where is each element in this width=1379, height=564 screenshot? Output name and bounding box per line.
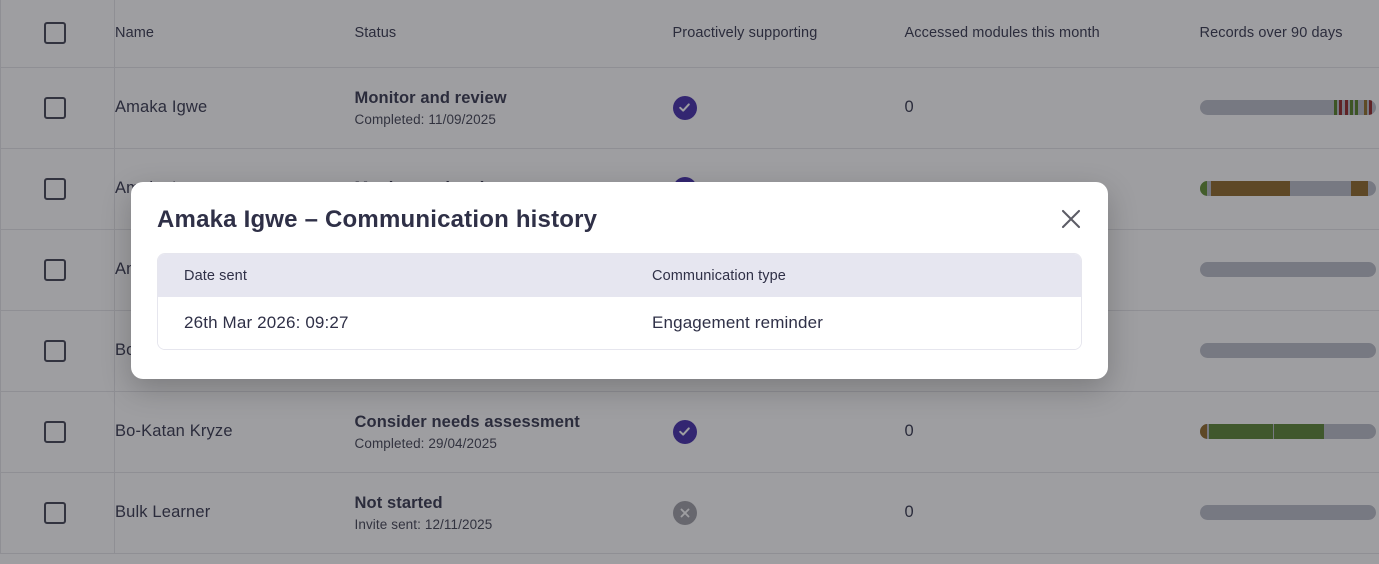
cell-date-sent: 26th Mar 2026: 09:27 (158, 297, 626, 349)
cell-communication-type: Engagement reminder (626, 297, 1081, 349)
communication-history-table-container: Date sent Communication type 26th Mar 20… (157, 253, 1082, 350)
modal-title: Amaka Igwe – Communication history (157, 206, 597, 234)
modal-column-date-sent: Date sent (158, 254, 626, 297)
modal-table-body: 26th Mar 2026: 09:27Engagement reminder (158, 297, 1081, 349)
communication-history-modal: Amaka Igwe – Communication history Date … (131, 182, 1108, 379)
close-icon[interactable] (1056, 204, 1086, 234)
modal-header-row: Date sent Communication type (158, 254, 1081, 297)
communication-history-table: Date sent Communication type 26th Mar 20… (158, 254, 1081, 349)
modal-table-head: Date sent Communication type (158, 254, 1081, 297)
modal-table-row: 26th Mar 2026: 09:27Engagement reminder (158, 297, 1081, 349)
page-root: Name Status Proactively supporting Acces… (0, 0, 1379, 564)
modal-column-communication-type: Communication type (626, 254, 1081, 297)
